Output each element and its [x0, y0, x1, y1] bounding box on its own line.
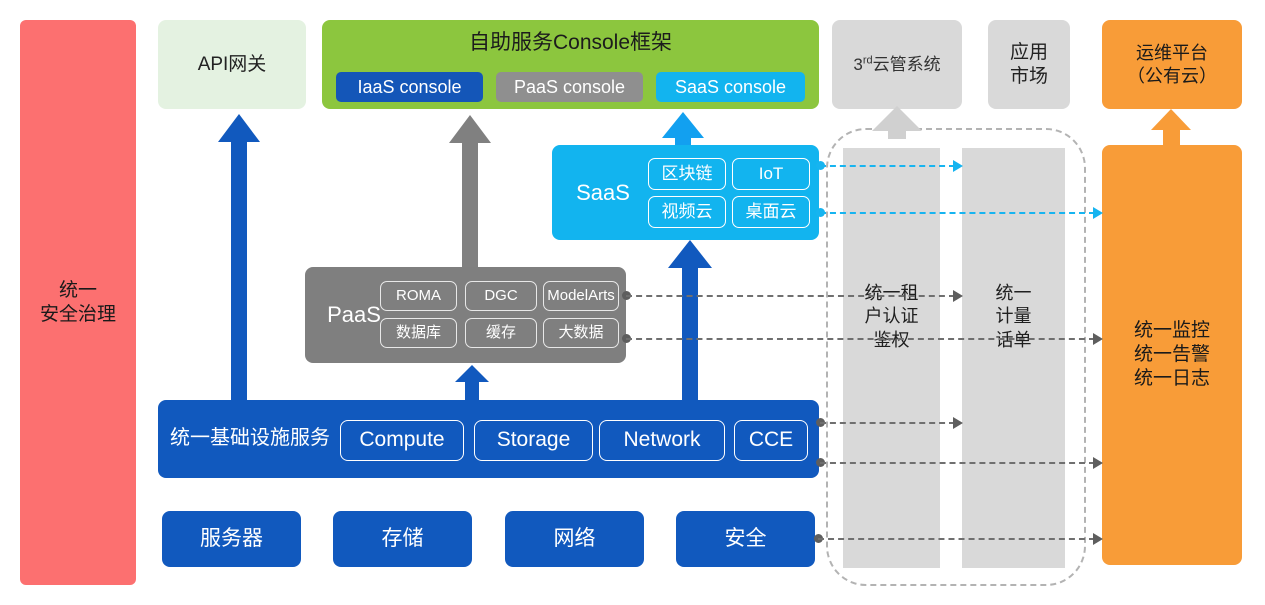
- paas-chip-cache[interactable]: 缓存: [465, 318, 537, 348]
- infrastructure-label: 统一基础设施服务: [170, 426, 330, 451]
- app-market-box[interactable]: 应用 市场: [988, 20, 1070, 109]
- infra-chip-compute-label: Compute: [359, 427, 444, 453]
- connector-saas-to-auth: [820, 165, 955, 167]
- paas-chip-roma[interactable]: ROMA: [380, 281, 457, 311]
- infrastructure-bar[interactable]: 统一基础设施服务 Compute Storage Network CCE: [158, 400, 819, 478]
- paas-chip-dgc-label: DGC: [484, 287, 517, 306]
- connector-arrow-infra-om: [1093, 457, 1103, 469]
- hardware-security-label: 安全: [725, 526, 767, 552]
- paas-chip-modelarts[interactable]: ModelArts: [543, 281, 619, 311]
- arrow-infra-to-saas: [668, 240, 712, 400]
- saas-console-label: SaaS console: [675, 76, 786, 99]
- connector-arrow-hardware-om: [1093, 533, 1103, 545]
- paas-box[interactable]: PaaS ROMA DGC ModelArts 数据库 缓存 大数据: [305, 267, 626, 363]
- om-platform-label: 运维平台 （公有云）: [1127, 42, 1217, 87]
- arrow-paas-to-console: [449, 115, 491, 267]
- saas-chip-desktop-cloud[interactable]: 桌面云: [732, 196, 810, 228]
- paas-chip-cache-label: 缓存: [486, 324, 516, 343]
- connector-arrow-paas-om: [1093, 333, 1103, 345]
- tenant-auth-label: 统一租 户认证 鉴权: [843, 282, 940, 352]
- arrow-saas-to-saas-console: [662, 112, 704, 145]
- hardware-box-network[interactable]: 网络: [505, 511, 644, 567]
- paas-console-chip[interactable]: PaaS console: [496, 72, 643, 102]
- connector-saas-to-om: [820, 212, 1095, 214]
- om-platform-box[interactable]: 运维平台 （公有云）: [1102, 20, 1242, 109]
- saas-chip-video-cloud-label: 视频云: [662, 201, 713, 222]
- saas-chip-desktop-cloud-label: 桌面云: [746, 201, 797, 222]
- paas-console-label: PaaS console: [514, 76, 625, 99]
- security-governance-label: 统一 安全治理: [40, 279, 116, 327]
- hardware-server-label: 服务器: [200, 526, 263, 552]
- paas-chip-database[interactable]: 数据库: [380, 318, 457, 348]
- app-market-label: 应用 市场: [1010, 41, 1048, 89]
- connector-hardware-to-om: [818, 538, 1095, 540]
- tenant-auth-column[interactable]: [843, 148, 940, 568]
- connector-paas-to-om: [626, 338, 1095, 340]
- connector-paas-to-auth: [626, 295, 955, 297]
- metering-label: 统一 计量 话单: [962, 282, 1065, 352]
- security-governance-panel[interactable]: 统一 安全治理: [20, 20, 136, 585]
- third-party-cloud-label: 3rd云管系统: [853, 54, 940, 75]
- om-panel-label: 统一监控 统一告警 统一日志: [1134, 319, 1210, 390]
- superscript-rd: rd: [863, 54, 873, 66]
- saas-label: SaaS: [564, 179, 642, 207]
- saas-chip-iot-label: IoT: [759, 163, 784, 184]
- console-framework-title: 自助服务Console框架: [322, 30, 819, 56]
- arrow-infra-to-paas: [455, 365, 489, 400]
- architecture-diagram: 统一 安全治理 API网关 自助服务Console框架 IaaS console…: [0, 0, 1265, 605]
- hardware-network-label: 网络: [554, 526, 596, 552]
- paas-chip-roma-label: ROMA: [396, 287, 441, 306]
- connector-arrow-saas-auth: [953, 160, 963, 172]
- infra-chip-compute[interactable]: Compute: [340, 420, 464, 461]
- saas-chip-video-cloud[interactable]: 视频云: [648, 196, 726, 228]
- hardware-box-security[interactable]: 安全: [676, 511, 815, 567]
- om-monitoring-panel[interactable]: 统一监控 统一告警 统一日志: [1102, 145, 1242, 565]
- api-gateway-label: API网关: [198, 53, 267, 77]
- paas-chip-bigdata-label: 大数据: [558, 324, 603, 343]
- infra-chip-storage-label: Storage: [497, 427, 571, 453]
- arrow-infra-to-api-gateway: [218, 114, 260, 400]
- infra-chip-cce[interactable]: CCE: [734, 420, 808, 461]
- infra-chip-cce-label: CCE: [749, 427, 793, 453]
- hardware-box-storage[interactable]: 存储: [333, 511, 472, 567]
- infra-chip-storage[interactable]: Storage: [474, 420, 593, 461]
- third-party-cloud-box[interactable]: 3rd云管系统: [832, 20, 962, 109]
- connector-arrow-infra-auth: [953, 417, 963, 429]
- paas-chip-bigdata[interactable]: 大数据: [543, 318, 619, 348]
- api-gateway-box[interactable]: API网关: [158, 20, 306, 109]
- saas-chip-blockchain[interactable]: 区块链: [648, 158, 726, 190]
- connector-infra-to-auth: [820, 422, 955, 424]
- paas-chip-dgc[interactable]: DGC: [465, 281, 537, 311]
- connector-arrow-saas-om: [1093, 207, 1103, 219]
- saas-chip-blockchain-label: 区块链: [662, 163, 713, 184]
- iaas-console-label: IaaS console: [357, 76, 461, 99]
- metering-column[interactable]: [962, 148, 1065, 568]
- saas-console-chip[interactable]: SaaS console: [656, 72, 805, 102]
- hardware-box-server[interactable]: 服务器: [162, 511, 301, 567]
- console-framework-box[interactable]: 自助服务Console框架 IaaS console PaaS console …: [322, 20, 819, 109]
- infra-chip-network[interactable]: Network: [599, 420, 725, 461]
- saas-box[interactable]: SaaS 区块链 IoT 视频云 桌面云: [552, 145, 819, 240]
- connector-infra-to-om: [820, 462, 1095, 464]
- paas-chip-modelarts-label: ModelArts: [547, 287, 615, 306]
- connector-arrow-paas-auth: [953, 290, 963, 302]
- saas-chip-iot[interactable]: IoT: [732, 158, 810, 190]
- iaas-console-chip[interactable]: IaaS console: [336, 72, 483, 102]
- arrow-om-panel-to-om-platform: [1151, 109, 1191, 145]
- infra-chip-network-label: Network: [623, 427, 700, 453]
- hardware-storage-label: 存储: [382, 526, 424, 552]
- paas-chip-database-label: 数据库: [396, 324, 441, 343]
